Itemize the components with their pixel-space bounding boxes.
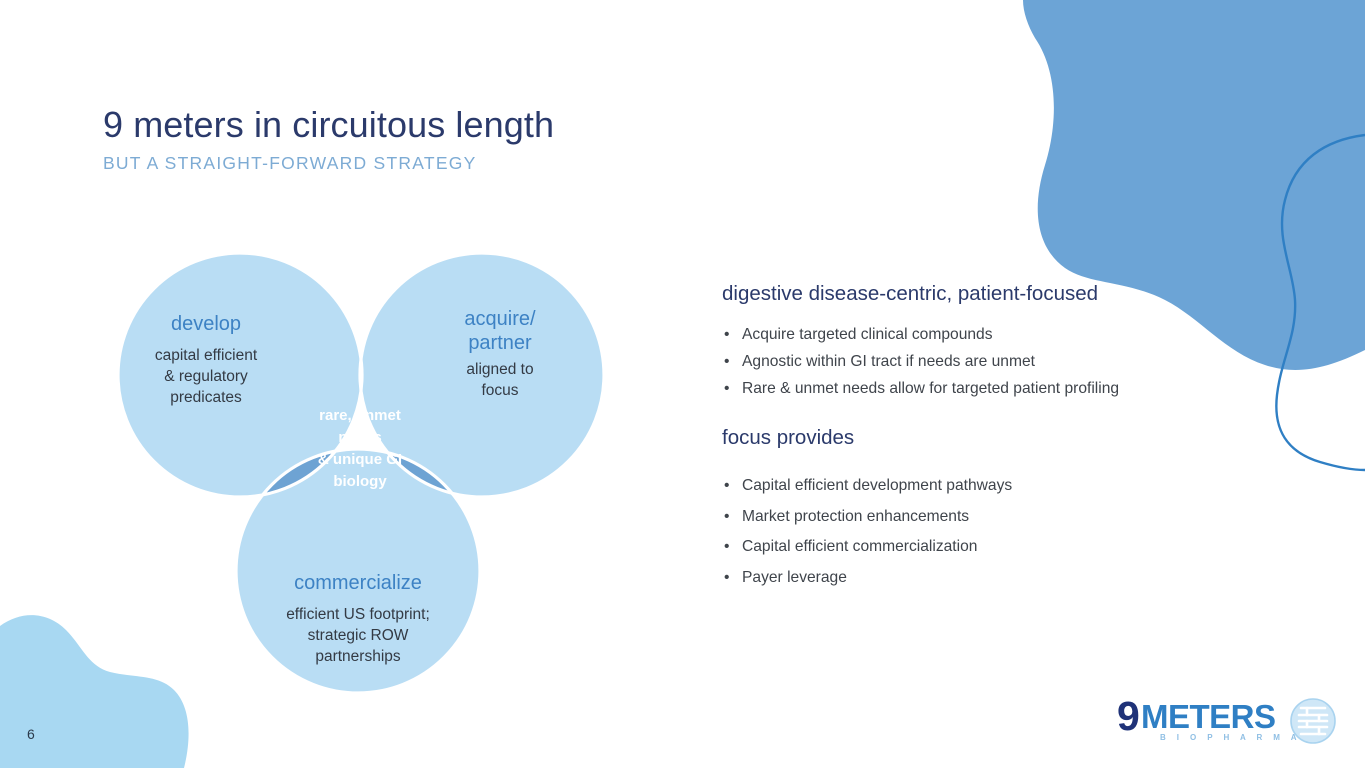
bullet-glyph: • [724,381,729,397]
section-heading-focus-provides: focus provides [722,425,1242,452]
list-item: • Agnostic within GI tract if needs are … [722,354,1242,370]
list-item: • Capital efficient development pathways [722,478,1242,494]
list-item-label: Payer leverage [742,569,847,586]
bullet-glyph: • [724,354,729,370]
venn-center-line4: biology [333,473,387,490]
intestine-circle-icon [1291,699,1335,743]
list-item: • Acquire targeted clinical compounds [722,327,1242,343]
bullet-glyph: • [724,570,729,586]
venn-desc-develop-line2: & regulatory [164,368,248,385]
list-item-label: Agnostic within GI tract if needs are un… [742,353,1035,370]
list-item-label: Capital efficient development pathways [742,477,1012,494]
bullet-glyph: • [724,478,729,494]
list-item-label: Acquire targeted clinical compounds [742,326,993,343]
decorative-curve-line [1276,135,1365,470]
list-item: • Payer leverage [722,570,1242,586]
page-subtitle: BUT A STRAIGHT-FORWARD STRATEGY [103,153,554,174]
venn-label-develop: develop [171,313,241,335]
list-item-label: Rare & unmet needs allow for targeted pa… [742,380,1119,397]
venn-desc-develop-line1: capital efficient [155,347,258,364]
bullet-glyph: • [724,327,729,343]
content-column: digestive disease-centric, patient-focus… [722,281,1242,600]
logo-nine-mark: 9 [1117,697,1140,739]
slide-canvas: 9 meters in circuitous length BUT A STRA… [0,0,1365,768]
bullet-glyph: • [724,539,729,555]
list-item-label: Market protection enhancements [742,508,969,525]
list-item: • Market protection enhancements [722,509,1242,525]
venn-diagram: develop capital efficient & regulatory p… [110,222,610,702]
venn-center-line3: & unique GI [318,451,402,468]
section-heading-digestive: digestive disease-centric, patient-focus… [722,281,1242,308]
logo-biopharma-wordmark: B I O P H A R M A [1160,733,1301,742]
venn-desc-develop-line3: predicates [170,389,242,406]
bullet-glyph: • [724,509,729,525]
venn-desc-commercialize-line3: partnerships [315,648,401,665]
company-logo: 9 METERS B I O P H A R M A [1117,697,1339,745]
list-item-label: Capital efficient commercialization [742,538,977,555]
venn-desc-commercialize-line2: strategic ROW [308,627,409,644]
list-item: • Rare & unmet needs allow for targeted … [722,381,1242,397]
title-block: 9 meters in circuitous length BUT A STRA… [103,104,554,174]
venn-center-line1: rare, unmet [319,407,401,424]
bullet-list-focus-areas: • Acquire targeted clinical compounds • … [722,327,1242,397]
venn-center-line2: needs [338,429,381,446]
venn-desc-commercialize-line1: efficient US footprint; [286,606,430,623]
page-title: 9 meters in circuitous length [103,104,554,146]
bullet-list-focus-benefits: • Capital efficient development pathways… [722,478,1242,585]
logo-meters-wordmark: METERS [1141,698,1276,735]
list-item: • Capital efficient commercialization [722,539,1242,555]
venn-desc-acquire-line1: aligned to [466,361,533,378]
venn-label-acquire-line1: acquire/ [464,308,536,330]
page-number: 6 [27,726,35,742]
venn-label-commercialize: commercialize [294,572,422,594]
venn-label-acquire-line2: partner [468,332,532,354]
venn-desc-acquire-line2: focus [481,382,518,399]
